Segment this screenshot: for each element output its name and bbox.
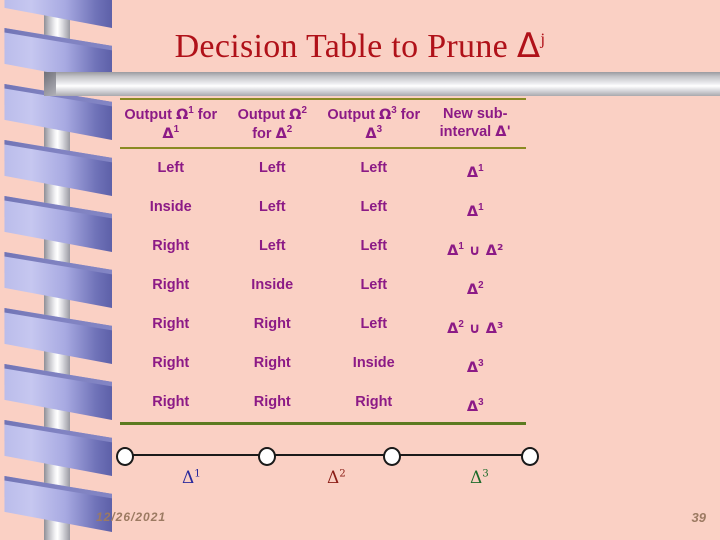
cell-new-subinterval: Δ1 ∪ Δ² xyxy=(425,227,527,266)
table-rule-bottom xyxy=(120,422,526,425)
header-symbol: Δ' xyxy=(495,124,511,140)
cell-output-omega1: Right xyxy=(120,266,222,305)
cell-output-omega3: Inside xyxy=(323,344,425,383)
table-header-cell-3: Output Ω3 for Δ3 xyxy=(323,100,425,147)
cell-symbol: Δ xyxy=(467,204,478,220)
cell-symbol: Δ xyxy=(447,243,458,259)
number-line-segment-2 xyxy=(272,454,392,456)
cell-output-omega3: Left xyxy=(323,227,425,266)
cell-output-omega3: Left xyxy=(323,149,425,188)
cell-output-omega1: Inside xyxy=(120,188,222,227)
helix-ribbon-segment xyxy=(0,196,112,252)
table-row: Right Left Left Δ1 ∪ Δ² xyxy=(120,227,526,266)
cell-new-subinterval: Δ1 xyxy=(425,149,527,188)
cell-symbol: Δ xyxy=(467,399,478,415)
table-header-row: Output Ω1 for Δ1 Output Ω2 for Δ2 Output… xyxy=(120,100,526,147)
cell-output-omega2: Right xyxy=(222,344,324,383)
number-line-label-delta3: Δ3 xyxy=(470,468,489,488)
cell-output-omega1: Right xyxy=(120,383,222,422)
number-line-label-delta1: Δ1 xyxy=(182,468,201,488)
cell-new-subinterval: Δ3 xyxy=(425,344,527,383)
cell-output-omega3: Left xyxy=(323,305,425,344)
cell-symbol: Δ xyxy=(467,282,478,298)
header-superscript: 2 xyxy=(301,105,306,116)
cell-output-omega2: Right xyxy=(222,383,324,422)
cell-superscript: 1 xyxy=(478,163,483,174)
cell-superscript: 3 xyxy=(478,397,483,408)
table-row: Left Left Left Δ1 xyxy=(120,149,526,188)
header-superscript: 1 xyxy=(174,124,179,135)
top-divider-bar xyxy=(56,72,720,96)
slide-canvas: Decision Table to Prune Δj Output Ω1 for… xyxy=(0,0,720,540)
footer-date: 12/26/2021 xyxy=(96,510,166,524)
cell-output-omega3: Left xyxy=(323,266,425,305)
header-text: New sub- xyxy=(443,106,507,122)
header-symbol: Δ xyxy=(365,126,376,142)
decision-table: Output Ω1 for Δ1 Output Ω2 for Δ2 Output… xyxy=(120,98,526,425)
label-symbol: Δ xyxy=(327,468,339,488)
header-text: interval xyxy=(440,124,496,140)
number-line-node[interactable] xyxy=(116,447,134,466)
page-title: Decision Table to Prune Δj xyxy=(0,26,720,66)
table-row: Right Right Left Δ2 ∪ Δ³ xyxy=(120,305,526,344)
cell-symbol: Δ xyxy=(447,321,458,337)
header-text: Output xyxy=(124,107,176,123)
table-row: Right Inside Left Δ2 xyxy=(120,266,526,305)
cell-output-omega1: Right xyxy=(120,344,222,383)
cell-output-omega1: Right xyxy=(120,305,222,344)
label-superscript: 1 xyxy=(194,468,200,479)
header-symbol: Ω xyxy=(379,107,391,123)
table-header-cell-4: New sub- interval Δ' xyxy=(425,100,527,147)
label-symbol: Δ xyxy=(470,468,482,488)
number-line-diagram: Δ1 Δ2 Δ3 xyxy=(0,434,720,504)
helix-ribbon-segment xyxy=(0,252,112,308)
header-symbol: Δ xyxy=(276,126,287,142)
helix-ribbon-segment xyxy=(0,308,112,364)
cell-new-subinterval: Δ1 xyxy=(425,188,527,227)
label-symbol: Δ xyxy=(182,468,194,488)
label-superscript: 3 xyxy=(482,468,488,479)
cell-output-omega2: Right xyxy=(222,305,324,344)
cell-extra: ∪ Δ³ xyxy=(464,321,503,337)
header-text: Output xyxy=(238,107,290,123)
table-row: Right Right Right Δ3 xyxy=(120,383,526,422)
cell-output-omega2: Left xyxy=(222,149,324,188)
helix-ribbon-segment xyxy=(0,364,112,420)
label-superscript: 2 xyxy=(339,468,345,479)
header-symbol: Ω xyxy=(289,107,301,123)
footer-page-number: 39 xyxy=(692,510,706,525)
header-symbol: Δ xyxy=(162,126,173,142)
helix-ribbon-segment xyxy=(0,140,112,196)
page-title-superscript: j xyxy=(540,30,545,49)
header-superscript: 2 xyxy=(287,124,292,135)
table-header-cell-2: Output Ω2 for Δ2 xyxy=(222,100,324,147)
header-text: for xyxy=(252,126,275,142)
cell-symbol: Δ xyxy=(467,360,478,376)
cell-output-omega1: Left xyxy=(120,149,222,188)
page-title-delta: Δ xyxy=(517,26,541,66)
header-symbol: Ω xyxy=(176,107,188,123)
header-text: for xyxy=(194,107,217,123)
cell-symbol: Δ xyxy=(467,165,478,181)
cell-new-subinterval: Δ2 xyxy=(425,266,527,305)
number-line-segment-3 xyxy=(396,454,530,456)
number-line-node[interactable] xyxy=(258,447,276,466)
cell-new-subinterval: Δ2 ∪ Δ³ xyxy=(425,305,527,344)
header-superscript: 3 xyxy=(377,124,382,135)
cell-output-omega3: Right xyxy=(323,383,425,422)
header-text: Output xyxy=(327,107,379,123)
cell-superscript: 3 xyxy=(478,358,483,369)
cell-extra: ∪ Δ² xyxy=(464,243,503,259)
cell-output-omega2: Left xyxy=(222,227,324,266)
page-title-text: Decision Table to Prune xyxy=(175,28,517,65)
number-line-node[interactable] xyxy=(383,447,401,466)
cell-superscript: 1 xyxy=(478,202,483,213)
header-text: for xyxy=(397,107,420,123)
cell-output-omega2: Inside xyxy=(222,266,324,305)
number-line-segment-1 xyxy=(130,454,268,456)
table-row: Right Right Inside Δ3 xyxy=(120,344,526,383)
helix-ribbon-segment xyxy=(0,0,112,28)
number-line-label-delta2: Δ2 xyxy=(327,468,346,488)
number-line-node[interactable] xyxy=(521,447,539,466)
cell-superscript: 2 xyxy=(478,280,483,291)
table-header-cell-1: Output Ω1 for Δ1 xyxy=(120,100,222,147)
cell-output-omega3: Left xyxy=(323,188,425,227)
cell-output-omega2: Left xyxy=(222,188,324,227)
table-row: Inside Left Left Δ1 xyxy=(120,188,526,227)
cell-new-subinterval: Δ3 xyxy=(425,383,527,422)
cell-output-omega1: Right xyxy=(120,227,222,266)
